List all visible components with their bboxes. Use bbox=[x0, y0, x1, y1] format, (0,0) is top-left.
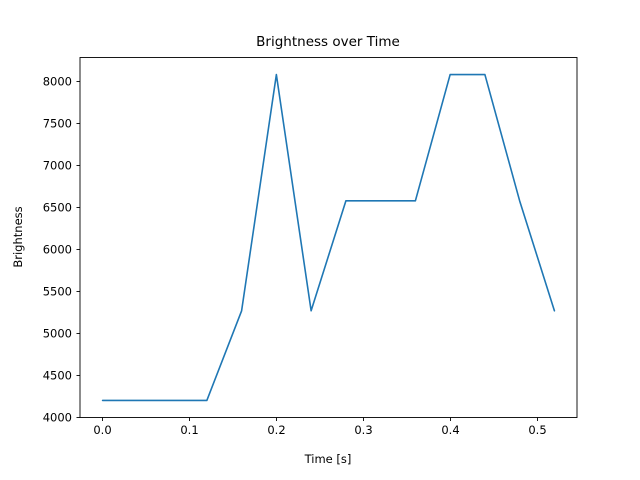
matplotlib-figure: Brightness over Time 4000 4500 5000 5500… bbox=[0, 0, 640, 480]
y-tick-label: 5000 bbox=[43, 327, 72, 341]
page-title: Brightness over Time bbox=[256, 34, 400, 50]
y-tick-label: 4500 bbox=[43, 369, 72, 383]
y-tick-label: 5500 bbox=[43, 285, 72, 299]
y-axis-tick-labels: 4000 4500 5000 5500 6000 6500 7000 7500 … bbox=[43, 75, 72, 425]
y-tick-label: 6000 bbox=[43, 243, 72, 257]
x-tick-label: 0.5 bbox=[528, 423, 546, 437]
x-tick-label: 0.0 bbox=[93, 423, 111, 437]
axes-frame bbox=[80, 58, 577, 418]
x-tick-label: 0.2 bbox=[267, 423, 285, 437]
y-tick-label: 8000 bbox=[43, 75, 72, 89]
brightness-series-line bbox=[103, 75, 555, 401]
y-tick-label: 7500 bbox=[43, 117, 72, 131]
x-tick-label: 0.3 bbox=[354, 423, 372, 437]
x-axis-tick-labels: 0.0 0.1 0.2 0.3 0.4 0.5 bbox=[93, 423, 546, 437]
y-axis-ticks bbox=[77, 82, 81, 418]
x-tick-label: 0.1 bbox=[180, 423, 198, 437]
y-tick-label: 7000 bbox=[43, 159, 72, 173]
x-tick-label: 0.4 bbox=[441, 423, 459, 437]
chart-canvas: Brightness over Time 4000 4500 5000 5500… bbox=[0, 0, 640, 480]
y-axis-label: Brightness bbox=[11, 206, 25, 267]
x-axis-ticks bbox=[103, 418, 538, 422]
x-axis-label: Time [s] bbox=[304, 452, 352, 466]
y-tick-label: 4000 bbox=[43, 411, 72, 425]
y-tick-label: 6500 bbox=[43, 201, 72, 215]
